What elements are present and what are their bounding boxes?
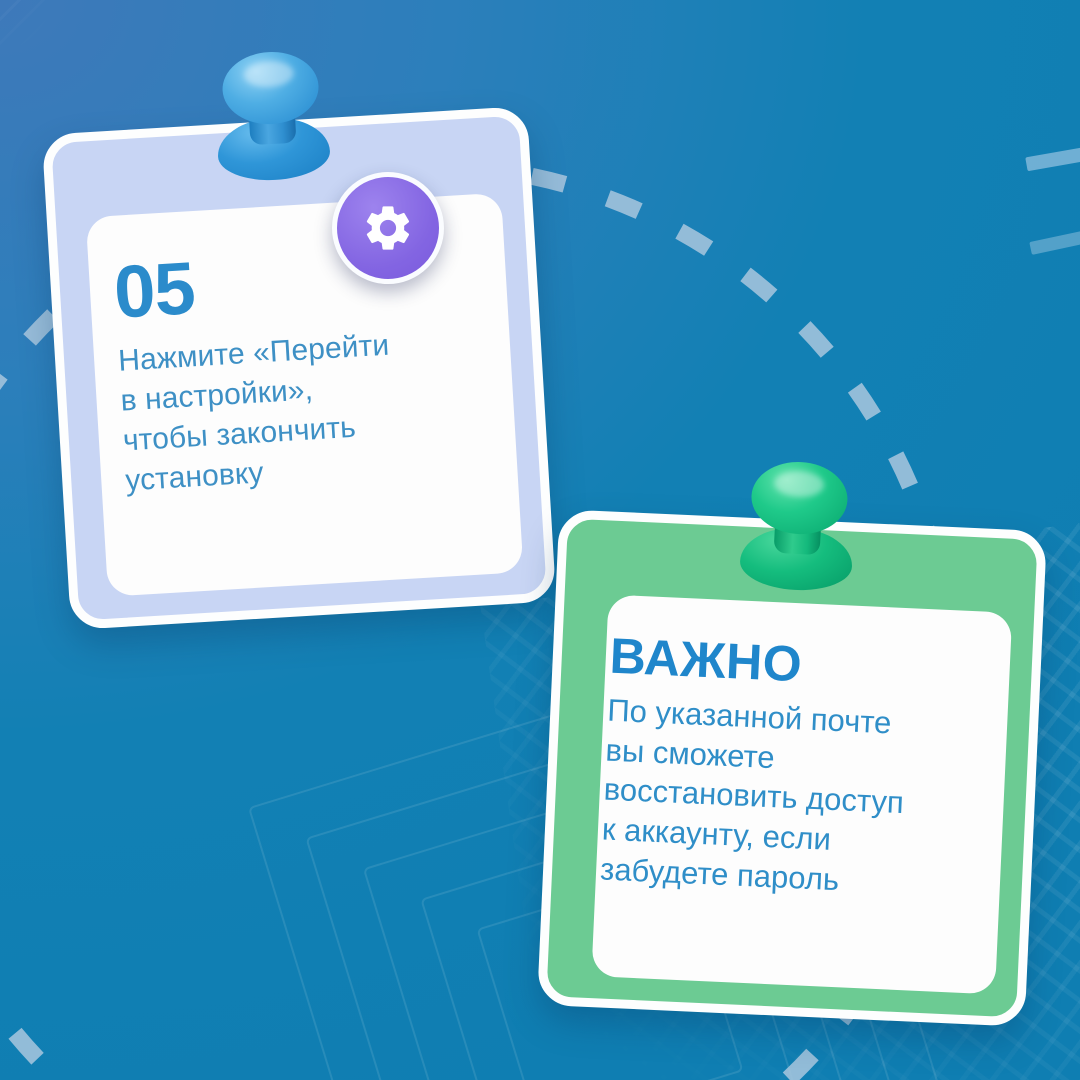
pushpin-icon-blue — [213, 49, 332, 183]
note-description: По указанной почте вы сможете восстанови… — [599, 691, 968, 905]
step-description: Нажмите «Перейти в настройки», чтобы зак… — [117, 321, 476, 501]
pushpin-head — [221, 50, 321, 127]
pushpin-icon-green — [739, 459, 858, 593]
step-card-content: 05 Нажмите «Перейти в настройки», чтобы … — [112, 237, 476, 501]
pushpin-highlight — [774, 470, 825, 499]
gear-icon — [361, 201, 415, 255]
note-card-content: ВАЖНО По указанной почте вы сможете восс… — [599, 631, 970, 905]
step-card[interactable]: 05 Нажмите «Перейти в настройки», чтобы … — [42, 106, 557, 630]
slide-canvas: 05 Нажмите «Перейти в настройки», чтобы … — [0, 0, 1080, 1080]
pushpin-highlight — [243, 60, 294, 89]
pushpin-head — [750, 460, 850, 537]
gear-badge[interactable] — [332, 172, 444, 284]
